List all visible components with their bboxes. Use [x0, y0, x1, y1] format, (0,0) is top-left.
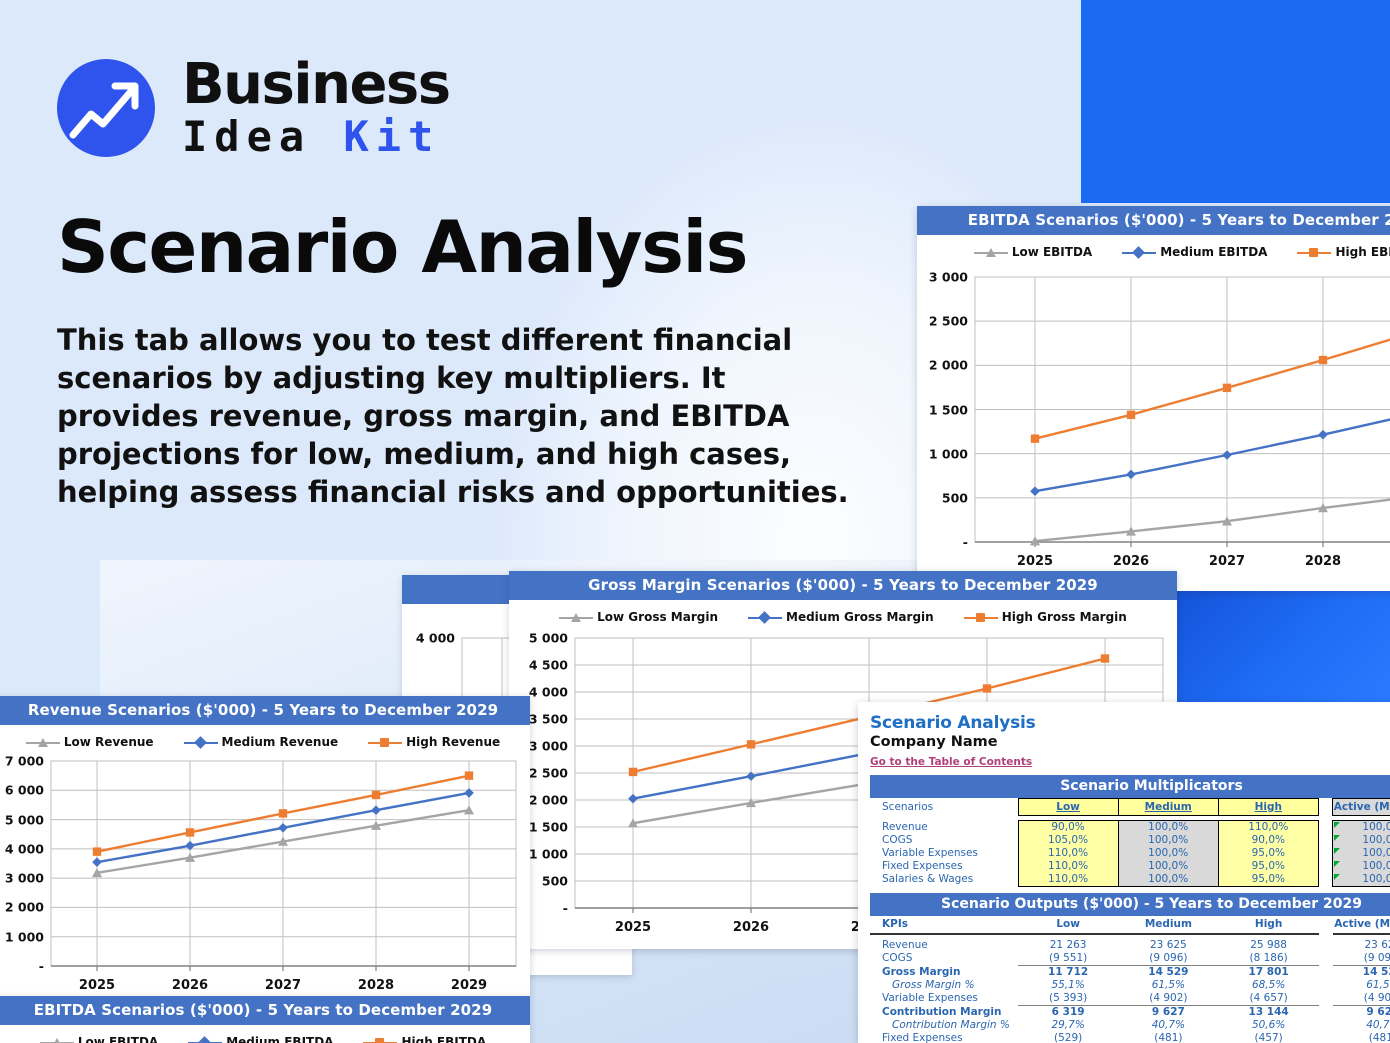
legend-item[interactable]: Low Gross Margin	[559, 610, 718, 624]
brand-name-line1: Business	[182, 58, 450, 113]
legend-item[interactable]: High Revenue	[368, 735, 500, 749]
table-row: Contribution Margin % 29,7% 40,7% 50,6% …	[870, 1019, 1390, 1032]
row-label: Variable Expenses	[870, 992, 1018, 1006]
x-axis-tick: 2027	[1209, 554, 1245, 569]
column-header-medium: Medium	[1118, 916, 1218, 934]
y-axis-tick: 7 000	[0, 754, 44, 769]
x-axis-tick: 2026	[172, 978, 208, 993]
y-axis-tick: 6 000	[0, 783, 44, 798]
y-axis-tick: 3 000	[0, 871, 44, 886]
y-axis-tick: 1 500	[917, 402, 968, 417]
chart-legend: Low EBITDA Medium EBITDA High EBITDA	[917, 235, 1390, 265]
legend-label: High EBITDA	[401, 1035, 486, 1043]
cell-medium: 14 529	[1118, 966, 1218, 980]
decorative-blue-block-top	[1081, 0, 1390, 203]
table-row: Contribution Margin 6 319 9 627 13 144 9…	[870, 1006, 1390, 1020]
x-axis-tick: 2029	[451, 978, 487, 993]
plot-area: -5001 0001 5002 0002 5003 00020252026202…	[917, 265, 1390, 576]
legend-label: High Revenue	[406, 735, 500, 749]
row-label: Fixed Expenses	[870, 1032, 1018, 1043]
cell-medium: 9 627	[1118, 1006, 1218, 1020]
brand-name-idea: Idea	[182, 112, 343, 161]
cell-active: 9 627	[1333, 1006, 1390, 1020]
chart-card-ebitda-top: EBITDA Scenarios ($'000) - 5 Years to De…	[917, 206, 1390, 591]
chart-legend: Low Gross Margin Medium Gross Margin Hig…	[509, 600, 1177, 630]
cell-low[interactable]: 105,0%	[1018, 834, 1118, 847]
x-axis-tick: 2026	[733, 920, 769, 935]
legend-item[interactable]: Medium Gross Margin	[748, 610, 934, 624]
scenario-outputs-band: Scenario Outputs ($'000) - 5 Years to De…	[870, 893, 1390, 916]
cell-active: (9 096)	[1333, 952, 1390, 966]
table-row: COGS 105,0% 100,0% 90,0% 100,0%	[870, 834, 1390, 847]
cell-high[interactable]: 90,0%	[1218, 834, 1318, 847]
y-axis-tick: 4 000	[0, 841, 44, 856]
legend-marker-diamond-icon	[184, 737, 218, 748]
row-label: COGS	[870, 834, 1018, 847]
table-row: Variable Expenses 110,0% 100,0% 95,0% 10…	[870, 847, 1390, 860]
cell-medium: (9 096)	[1118, 952, 1218, 966]
legend-marker-diamond-icon	[748, 612, 782, 623]
cell-active: (481)	[1333, 1032, 1390, 1043]
cell-active: 14 529	[1333, 966, 1390, 980]
table-row: Variable Expenses (5 393) (4 902) (4 657…	[870, 992, 1390, 1006]
x-axis-tick: 2025	[615, 920, 651, 935]
table-row: Gross Margin 11 712 14 529 17 801 14 529	[870, 966, 1390, 980]
y-axis-tick: 5 000	[509, 631, 568, 646]
cell-medium: 61,5%	[1118, 979, 1218, 992]
row-label: Gross Margin	[870, 966, 1018, 980]
brand-logo: Business Idea Kit	[57, 58, 450, 159]
legend-marker-triangle-icon	[559, 612, 593, 623]
sheet-company-name: Company Name	[870, 734, 1390, 750]
legend-label: High EBITDA	[1335, 245, 1390, 259]
table-row: Gross Margin % 55,1% 61,5% 68,5% 61,5%	[870, 979, 1390, 992]
chart-card-revenue: Revenue Scenarios ($'000) - 5 Years to D…	[0, 696, 530, 996]
cell-low: 11 712	[1018, 966, 1118, 980]
cell-high: 13 144	[1219, 1006, 1319, 1020]
table-row: Fixed Expenses 110,0% 100,0% 95,0% 100,0…	[870, 860, 1390, 873]
brand-name-line2: Idea Kit	[182, 115, 450, 159]
column-header-low[interactable]: Low	[1018, 799, 1118, 816]
row-label: Fixed Expenses	[870, 860, 1018, 873]
legend-item[interactable]: Medium EBITDA	[1122, 245, 1267, 259]
x-axis-tick: 2025	[79, 978, 115, 993]
column-header-high: High	[1219, 916, 1319, 934]
column-header-active: Active (Medium)	[1332, 799, 1390, 816]
cell-low: 6 319	[1018, 1006, 1118, 1020]
cell-medium[interactable]: 100,0%	[1118, 847, 1218, 860]
y-axis-tick: 5 000	[0, 812, 44, 827]
legend-label: High Gross Margin	[1002, 610, 1127, 624]
column-header-active: Active (Medium)	[1333, 916, 1390, 934]
cell-medium: (4 902)	[1118, 992, 1218, 1006]
table-row: Salaries & Wages 110,0% 100,0% 95,0% 100…	[870, 873, 1390, 887]
row-label: Salaries & Wages	[870, 873, 1018, 887]
table-of-contents-link[interactable]: Go to the Table of Contents	[870, 756, 1032, 768]
y-axis-tick: 1 000	[0, 929, 44, 944]
cell-medium[interactable]: 100,0%	[1118, 860, 1218, 873]
row-label: Revenue	[870, 939, 1018, 952]
y-axis-tick: 500	[917, 490, 968, 505]
cell-low: 55,1%	[1018, 979, 1118, 992]
chart-title: Gross Margin Scenarios ($'000) - 5 Years…	[509, 571, 1177, 600]
legend-marker-triangle-icon	[974, 247, 1008, 258]
y-axis-tick: -	[0, 959, 44, 974]
table-header-row: KPIs LowMediumHigh Active (Medium)	[870, 916, 1390, 934]
scenario-outputs-table: KPIs LowMediumHigh Active (Medium) Reven…	[870, 916, 1390, 1043]
cell-active: 100,0%	[1332, 821, 1390, 835]
cell-low[interactable]: 110,0%	[1018, 847, 1118, 860]
table-row: Revenue 21 263 23 625 25 988 23 625	[870, 939, 1390, 952]
cell-low: (5 393)	[1018, 992, 1118, 1006]
scenario-analysis-sheet: Scenario Analysis Company Name Go to the…	[858, 702, 1390, 1043]
row-label: Revenue	[870, 821, 1018, 835]
row-label: Contribution Margin	[870, 1006, 1018, 1020]
legend-marker-diamond-icon	[1122, 247, 1156, 258]
y-axis-tick: 2 000	[0, 900, 44, 915]
cell-medium[interactable]: 100,0%	[1118, 873, 1218, 887]
sheet-title: Scenario Analysis	[870, 713, 1390, 733]
legend-marker-square-icon	[964, 612, 998, 623]
column-header-medium[interactable]: Medium	[1118, 799, 1218, 816]
cell-high: 50,6%	[1219, 1019, 1319, 1032]
cell-high: 17 801	[1219, 966, 1319, 980]
cell-active: 61,5%	[1333, 979, 1390, 992]
chart-title: EBITDA Scenarios ($'000) - 5 Years to De…	[0, 996, 530, 1025]
cell-high[interactable]: 95,0%	[1218, 873, 1318, 887]
chart-title: Revenue Scenarios ($'000) - 5 Years to D…	[0, 696, 530, 725]
legend-label: Medium Gross Margin	[786, 610, 934, 624]
legend-label: Medium EBITDA	[1160, 245, 1267, 259]
table-header-row: Scenarios LowMediumHigh Active (Medium)	[870, 799, 1390, 816]
y-axis-tick: -	[917, 535, 968, 550]
cell-low[interactable]: 90,0%	[1018, 821, 1118, 835]
legend-label: Medium EBITDA	[226, 1035, 333, 1043]
legend-label: Low EBITDA	[78, 1035, 158, 1043]
table-row: COGS (9 551) (9 096) (8 186) (9 096)	[870, 952, 1390, 966]
decorative-blue-block-middle	[1169, 590, 1390, 707]
cell-low: (529)	[1018, 1032, 1118, 1043]
legend-item[interactable]: Low EBITDA	[40, 1035, 158, 1043]
cell-active: 100,0%	[1332, 860, 1390, 873]
legend-label: Medium Revenue	[222, 735, 339, 749]
cell-low: 29,7%	[1018, 1019, 1118, 1032]
cell-high[interactable]: 110,0%	[1218, 821, 1318, 835]
legend-marker-triangle-icon	[40, 1037, 74, 1043]
cell-high: (8 186)	[1219, 952, 1319, 966]
y-axis-tick: 2 500	[917, 314, 968, 329]
cell-medium[interactable]: 100,0%	[1118, 821, 1218, 835]
column-header-low: Low	[1018, 916, 1118, 934]
legend-item[interactable]: High EBITDA	[363, 1035, 486, 1043]
cell-high: (4 657)	[1219, 992, 1319, 1006]
cell-high[interactable]: 95,0%	[1218, 847, 1318, 860]
legend-item[interactable]: High EBITDA	[1297, 245, 1390, 259]
legend-marker-square-icon	[363, 1037, 397, 1043]
page-title: Scenario Analysis	[57, 210, 747, 286]
x-axis-tick: 2025	[1017, 554, 1053, 569]
x-axis-tick: 2028	[358, 978, 394, 993]
brand-name-kit: Kit	[343, 112, 440, 161]
column-header-high[interactable]: High	[1218, 799, 1318, 816]
multiplicators-row-header: Scenarios	[870, 799, 1018, 816]
y-axis-tick: 3 000	[917, 270, 968, 285]
trend-up-arrow-icon	[57, 59, 155, 157]
cell-active: 100,0%	[1332, 847, 1390, 860]
cell-active: 23 625	[1333, 939, 1390, 952]
legend-label: Low Revenue	[64, 735, 154, 749]
cell-low: (9 551)	[1018, 952, 1118, 966]
chart-title: EBITDA Scenarios ($'000) - 5 Years to De…	[917, 206, 1390, 235]
legend-marker-diamond-icon	[188, 1037, 222, 1043]
legend-marker-square-icon	[368, 737, 402, 748]
row-label: Variable Expenses	[870, 847, 1018, 860]
cell-active: 100,0%	[1332, 834, 1390, 847]
cell-low[interactable]: 110,0%	[1018, 860, 1118, 873]
kpi-header: KPIs	[870, 916, 1018, 934]
cell-medium[interactable]: 100,0%	[1118, 834, 1218, 847]
x-axis-tick: 2028	[1305, 554, 1341, 569]
cell-active: 100,0%	[1332, 873, 1390, 887]
cell-high: (457)	[1219, 1032, 1319, 1043]
y-axis-tick: 2 000	[917, 358, 968, 373]
cell-high: 68,5%	[1219, 979, 1319, 992]
table-row: Revenue 90,0% 100,0% 110,0% 100,0%	[870, 821, 1390, 835]
scenario-multiplicators-table: Scenarios LowMediumHigh Active (Medium) …	[870, 798, 1390, 887]
chart-card-ebitda-bottom: EBITDA Scenarios ($'000) - 5 Years to De…	[0, 996, 530, 1043]
chart-legend: Low Revenue Medium Revenue High Revenue	[0, 725, 530, 755]
legend-marker-square-icon	[1297, 247, 1331, 258]
y-axis-tick: 4 500	[509, 658, 568, 673]
table-row: Fixed Expenses (529) (481) (457) (481)	[870, 1032, 1390, 1043]
y-axis-tick: 4 000	[402, 631, 455, 646]
cell-medium: 40,7%	[1118, 1019, 1218, 1032]
row-label: COGS	[870, 952, 1018, 966]
x-axis-tick: 2026	[1113, 554, 1149, 569]
legend-item[interactable]: Medium Revenue	[184, 735, 339, 749]
legend-label: Low EBITDA	[1012, 245, 1092, 259]
legend-item[interactable]: Low EBITDA	[974, 245, 1092, 259]
legend-item[interactable]: Low Revenue	[26, 735, 154, 749]
cell-low: 21 263	[1018, 939, 1118, 952]
scenario-multiplicators-band: Scenario Multiplicators	[870, 775, 1390, 798]
plot-area: -1 0002 0003 0004 0005 0006 0007 0002025…	[0, 755, 530, 996]
row-label: Contribution Margin %	[870, 1019, 1018, 1032]
legend-item[interactable]: High Gross Margin	[964, 610, 1127, 624]
row-label: Gross Margin %	[870, 979, 1018, 992]
page-description: This tab allows you to test different fi…	[57, 322, 857, 512]
cell-active: (4 902)	[1333, 992, 1390, 1006]
cell-low[interactable]: 110,0%	[1018, 873, 1118, 887]
cell-medium: (481)	[1118, 1032, 1218, 1043]
cell-active: 40,7%	[1333, 1019, 1390, 1032]
cell-medium: 23 625	[1118, 939, 1218, 952]
cell-high: 25 988	[1219, 939, 1319, 952]
x-axis-tick: 2027	[265, 978, 301, 993]
legend-label: Low Gross Margin	[597, 610, 718, 624]
cell-high[interactable]: 95,0%	[1218, 860, 1318, 873]
legend-marker-triangle-icon	[26, 737, 60, 748]
legend-item[interactable]: Medium EBITDA	[188, 1035, 333, 1043]
y-axis-tick: 1 000	[917, 446, 968, 461]
chart-legend: Low EBITDA Medium EBITDA High EBITDA	[0, 1025, 530, 1043]
